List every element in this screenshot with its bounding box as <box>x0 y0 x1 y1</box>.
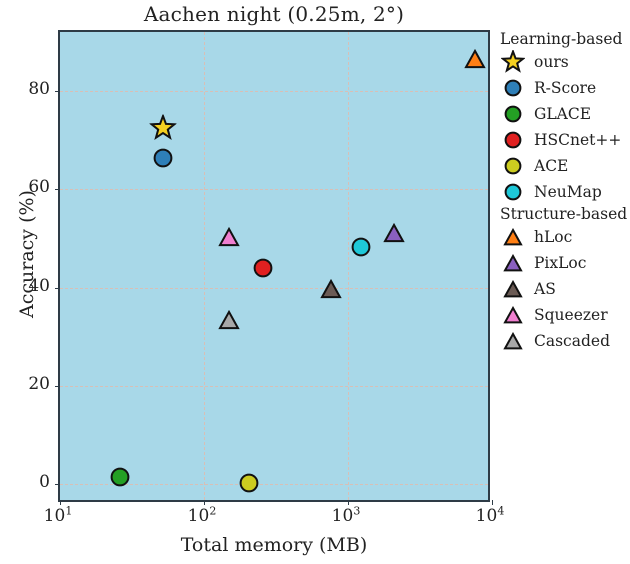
legend-label-neumap: NeuMap <box>528 183 602 201</box>
x-axis-title: Total memory (MB) <box>58 534 490 556</box>
scatter-plot-figure: Aachen night (0.25m, 2°) Accuracy (%) To… <box>0 0 630 564</box>
legend-triangle-icon <box>498 328 528 354</box>
legend-circle-icon <box>498 127 528 153</box>
legend-circle-icon <box>498 101 528 127</box>
y-tick-label: 60 <box>6 177 50 197</box>
page-title: Aachen night (0.25m, 2°) <box>58 2 490 26</box>
data-point-squeezer <box>218 227 240 247</box>
legend-circle-icon <box>498 179 528 205</box>
x-tick-label: 103 <box>332 506 361 526</box>
legend-item-neumap[interactable]: NeuMap <box>498 179 630 205</box>
legend-item-pixloc[interactable]: PixLoc <box>498 250 630 276</box>
x-tick-mark <box>348 500 349 505</box>
legend-label-glace: GLACE <box>528 105 591 123</box>
legend-item-ace[interactable]: ACE <box>498 153 630 179</box>
legend-label-cascaded: Cascaded <box>528 332 610 350</box>
x-tick-mark <box>60 500 61 505</box>
data-point-as <box>320 279 342 299</box>
y-tick-label: 80 <box>6 79 50 99</box>
legend-label-squeezer: Squeezer <box>528 306 608 324</box>
data-point-hscnet <box>253 258 273 278</box>
legend-label-ace: ACE <box>528 157 568 175</box>
legend-item-cascaded[interactable]: Cascaded <box>498 328 630 354</box>
legend-triangle-icon <box>498 276 528 302</box>
legend-group-learning-based: oursR-ScoreGLACEHSCnet++ACENeuMap <box>498 49 630 205</box>
legend-label-pixloc: PixLoc <box>528 254 586 272</box>
x-tick-label: 101 <box>44 506 73 526</box>
data-markers <box>60 32 488 500</box>
legend-label-hscnet: HSCnet++ <box>528 131 621 149</box>
legend-item-hscnet[interactable]: HSCnet++ <box>498 127 630 153</box>
data-point-cascaded <box>218 310 240 330</box>
data-point-neumap <box>351 237 371 257</box>
data-point-ours <box>150 114 177 141</box>
x-tick-label: 104 <box>476 506 505 526</box>
legend-label-r-score: R-Score <box>528 79 596 97</box>
legend: Learning-based oursR-ScoreGLACEHSCnet++A… <box>498 30 630 360</box>
legend-item-squeezer[interactable]: Squeezer <box>498 302 630 328</box>
data-point-hloc <box>464 49 486 69</box>
legend-item-as[interactable]: AS <box>498 276 630 302</box>
y-tick-label: 40 <box>6 276 50 296</box>
legend-group-structure-based: hLocPixLocASSqueezerCascaded <box>498 224 630 354</box>
x-tick-mark <box>492 500 493 505</box>
data-point-r-score <box>153 148 173 168</box>
x-axis-tick-labels: 101102103104 <box>58 506 490 536</box>
legend-star-icon <box>498 49 528 75</box>
legend-circle-icon <box>498 75 528 101</box>
legend-triangle-icon <box>498 302 528 328</box>
legend-label-hloc: hLoc <box>528 228 572 246</box>
data-point-ace <box>239 473 259 493</box>
y-tick-label: 20 <box>6 374 50 394</box>
x-tick-label: 102 <box>188 506 217 526</box>
legend-triangle-icon <box>498 224 528 250</box>
legend-item-hloc[interactable]: hLoc <box>498 224 630 250</box>
legend-triangle-icon <box>498 250 528 276</box>
legend-label-as: AS <box>528 280 556 298</box>
legend-heading-learning-based: Learning-based <box>498 30 630 48</box>
legend-circle-icon <box>498 153 528 179</box>
legend-item-ours[interactable]: ours <box>498 49 630 75</box>
plot-area <box>58 30 490 502</box>
legend-label-ours: ours <box>528 53 569 71</box>
x-tick-mark <box>204 500 205 505</box>
y-axis-tick-labels: 020406080 <box>0 30 50 502</box>
data-point-glace <box>110 467 130 487</box>
legend-item-r-score[interactable]: R-Score <box>498 75 630 101</box>
y-tick-label: 0 <box>6 472 50 492</box>
legend-item-glace[interactable]: GLACE <box>498 101 630 127</box>
legend-heading-structure-based: Structure-based <box>498 205 630 223</box>
data-point-pixloc <box>383 222 405 242</box>
